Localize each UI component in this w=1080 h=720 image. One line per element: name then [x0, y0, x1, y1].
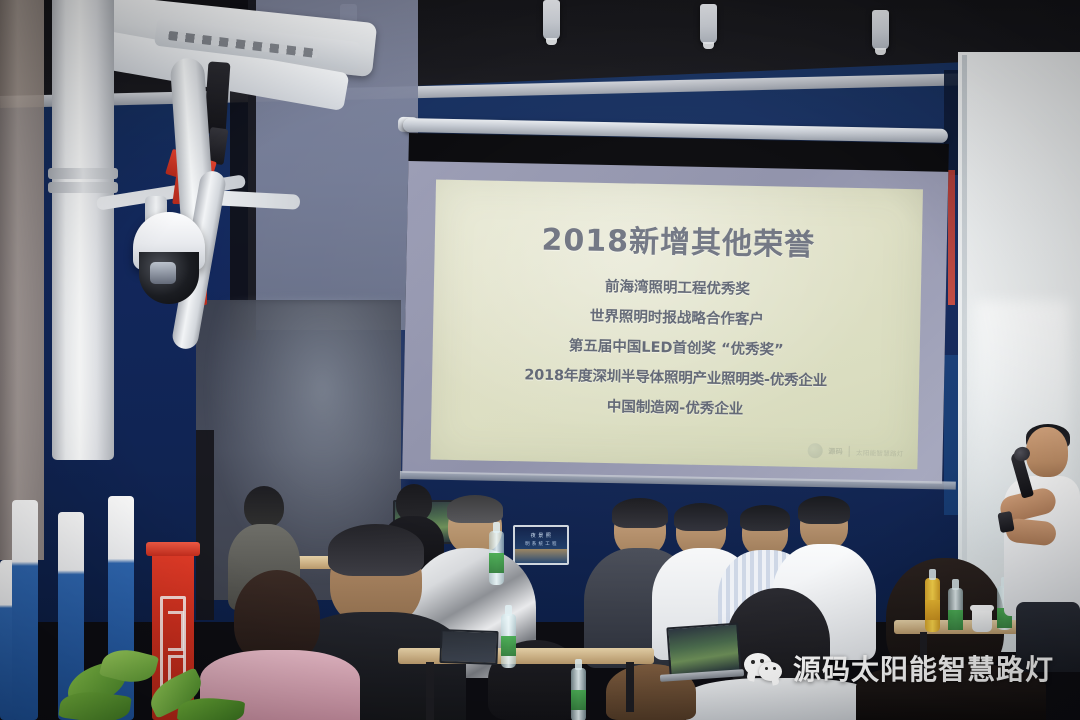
background-pillar — [0, 0, 44, 560]
watermark: 源码太阳能智慧路灯 — [744, 648, 1054, 688]
water-bottle — [489, 531, 504, 585]
red-column-cap — [146, 542, 200, 556]
water-bottle — [948, 588, 963, 630]
wall-edge-blue-strip — [944, 355, 958, 515]
camera-lens-icon — [150, 262, 176, 284]
table-leg — [626, 662, 634, 712]
table-display-card: 夜 景 照 明 系 统 工 程 — [513, 525, 569, 565]
slide-line: 2018年度深圳半导体照明产业照明类-优秀企业 — [524, 363, 827, 390]
screen-margin: 2018新增其他荣誉 前海湾照明工程优秀奖 世界照明时报战略合作客户 第五届中国… — [402, 161, 948, 484]
table-leg — [426, 662, 434, 720]
slide-line: 世界照明时报战略合作客户 — [590, 305, 764, 329]
wall-edge-red-strip — [948, 170, 955, 305]
slide-line: 中国制造网-优秀企业 — [607, 395, 744, 419]
smart-pole-column — [52, 0, 114, 460]
presentation-slide: 2018新增其他荣誉 前海湾照明工程优秀奖 世界照明时报战略合作客户 第五届中国… — [430, 180, 923, 470]
door-frame — [196, 430, 214, 620]
card-cityscape-image — [515, 549, 567, 563]
slide-line: 第五届中国LED首创奖 “优秀奖” — [569, 334, 784, 359]
slide-corner-logo: 源码 太阳能智慧路灯 — [807, 443, 904, 460]
ceiling-spotlight-icon — [872, 10, 889, 50]
slide-logo-secondary: 太阳能智慧路灯 — [856, 447, 904, 458]
slide-title: 2018新增其他荣誉 — [435, 213, 923, 267]
conference-photo-scene: 2018新增其他荣誉 前海湾照明工程优秀奖 世界照明时报战略合作客户 第五届中国… — [0, 0, 1080, 720]
slide-logo-divider — [849, 446, 850, 457]
laptop-screen — [439, 629, 498, 665]
ceiling-spotlight-icon — [700, 4, 717, 44]
watermark-text: 源码太阳能智慧路灯 — [793, 648, 1054, 688]
slide-logo-mark-icon — [807, 443, 822, 458]
paper-cup — [972, 608, 992, 632]
card-line-1: 夜 景 照 — [515, 532, 567, 539]
presenter-head — [1026, 427, 1068, 477]
water-bottle — [501, 614, 516, 668]
card-line-2: 明 系 统 工 程 — [515, 541, 567, 547]
ceiling-spotlight-icon — [543, 0, 560, 40]
potted-plant — [60, 640, 250, 720]
pole-clamp-band — [48, 168, 118, 179]
slide-body-list: 前海湾照明工程优秀奖 世界照明时报战略合作客户 第五届中国LED首创奖 “优秀奖… — [431, 272, 921, 423]
orange-drink-bottle — [925, 578, 940, 632]
water-bottle — [571, 668, 586, 720]
table — [398, 648, 654, 664]
projection-screen: 2018新增其他荣誉 前海湾照明工程优秀奖 世界照明时报战略合作客户 第五届中国… — [402, 133, 949, 484]
slide-line: 前海湾照明工程优秀奖 — [605, 275, 750, 299]
slide-logo-primary: 源码 — [828, 446, 843, 456]
pole-clamp-band — [48, 182, 118, 193]
decorative-bollard — [12, 500, 38, 720]
wechat-icon — [744, 653, 782, 683]
